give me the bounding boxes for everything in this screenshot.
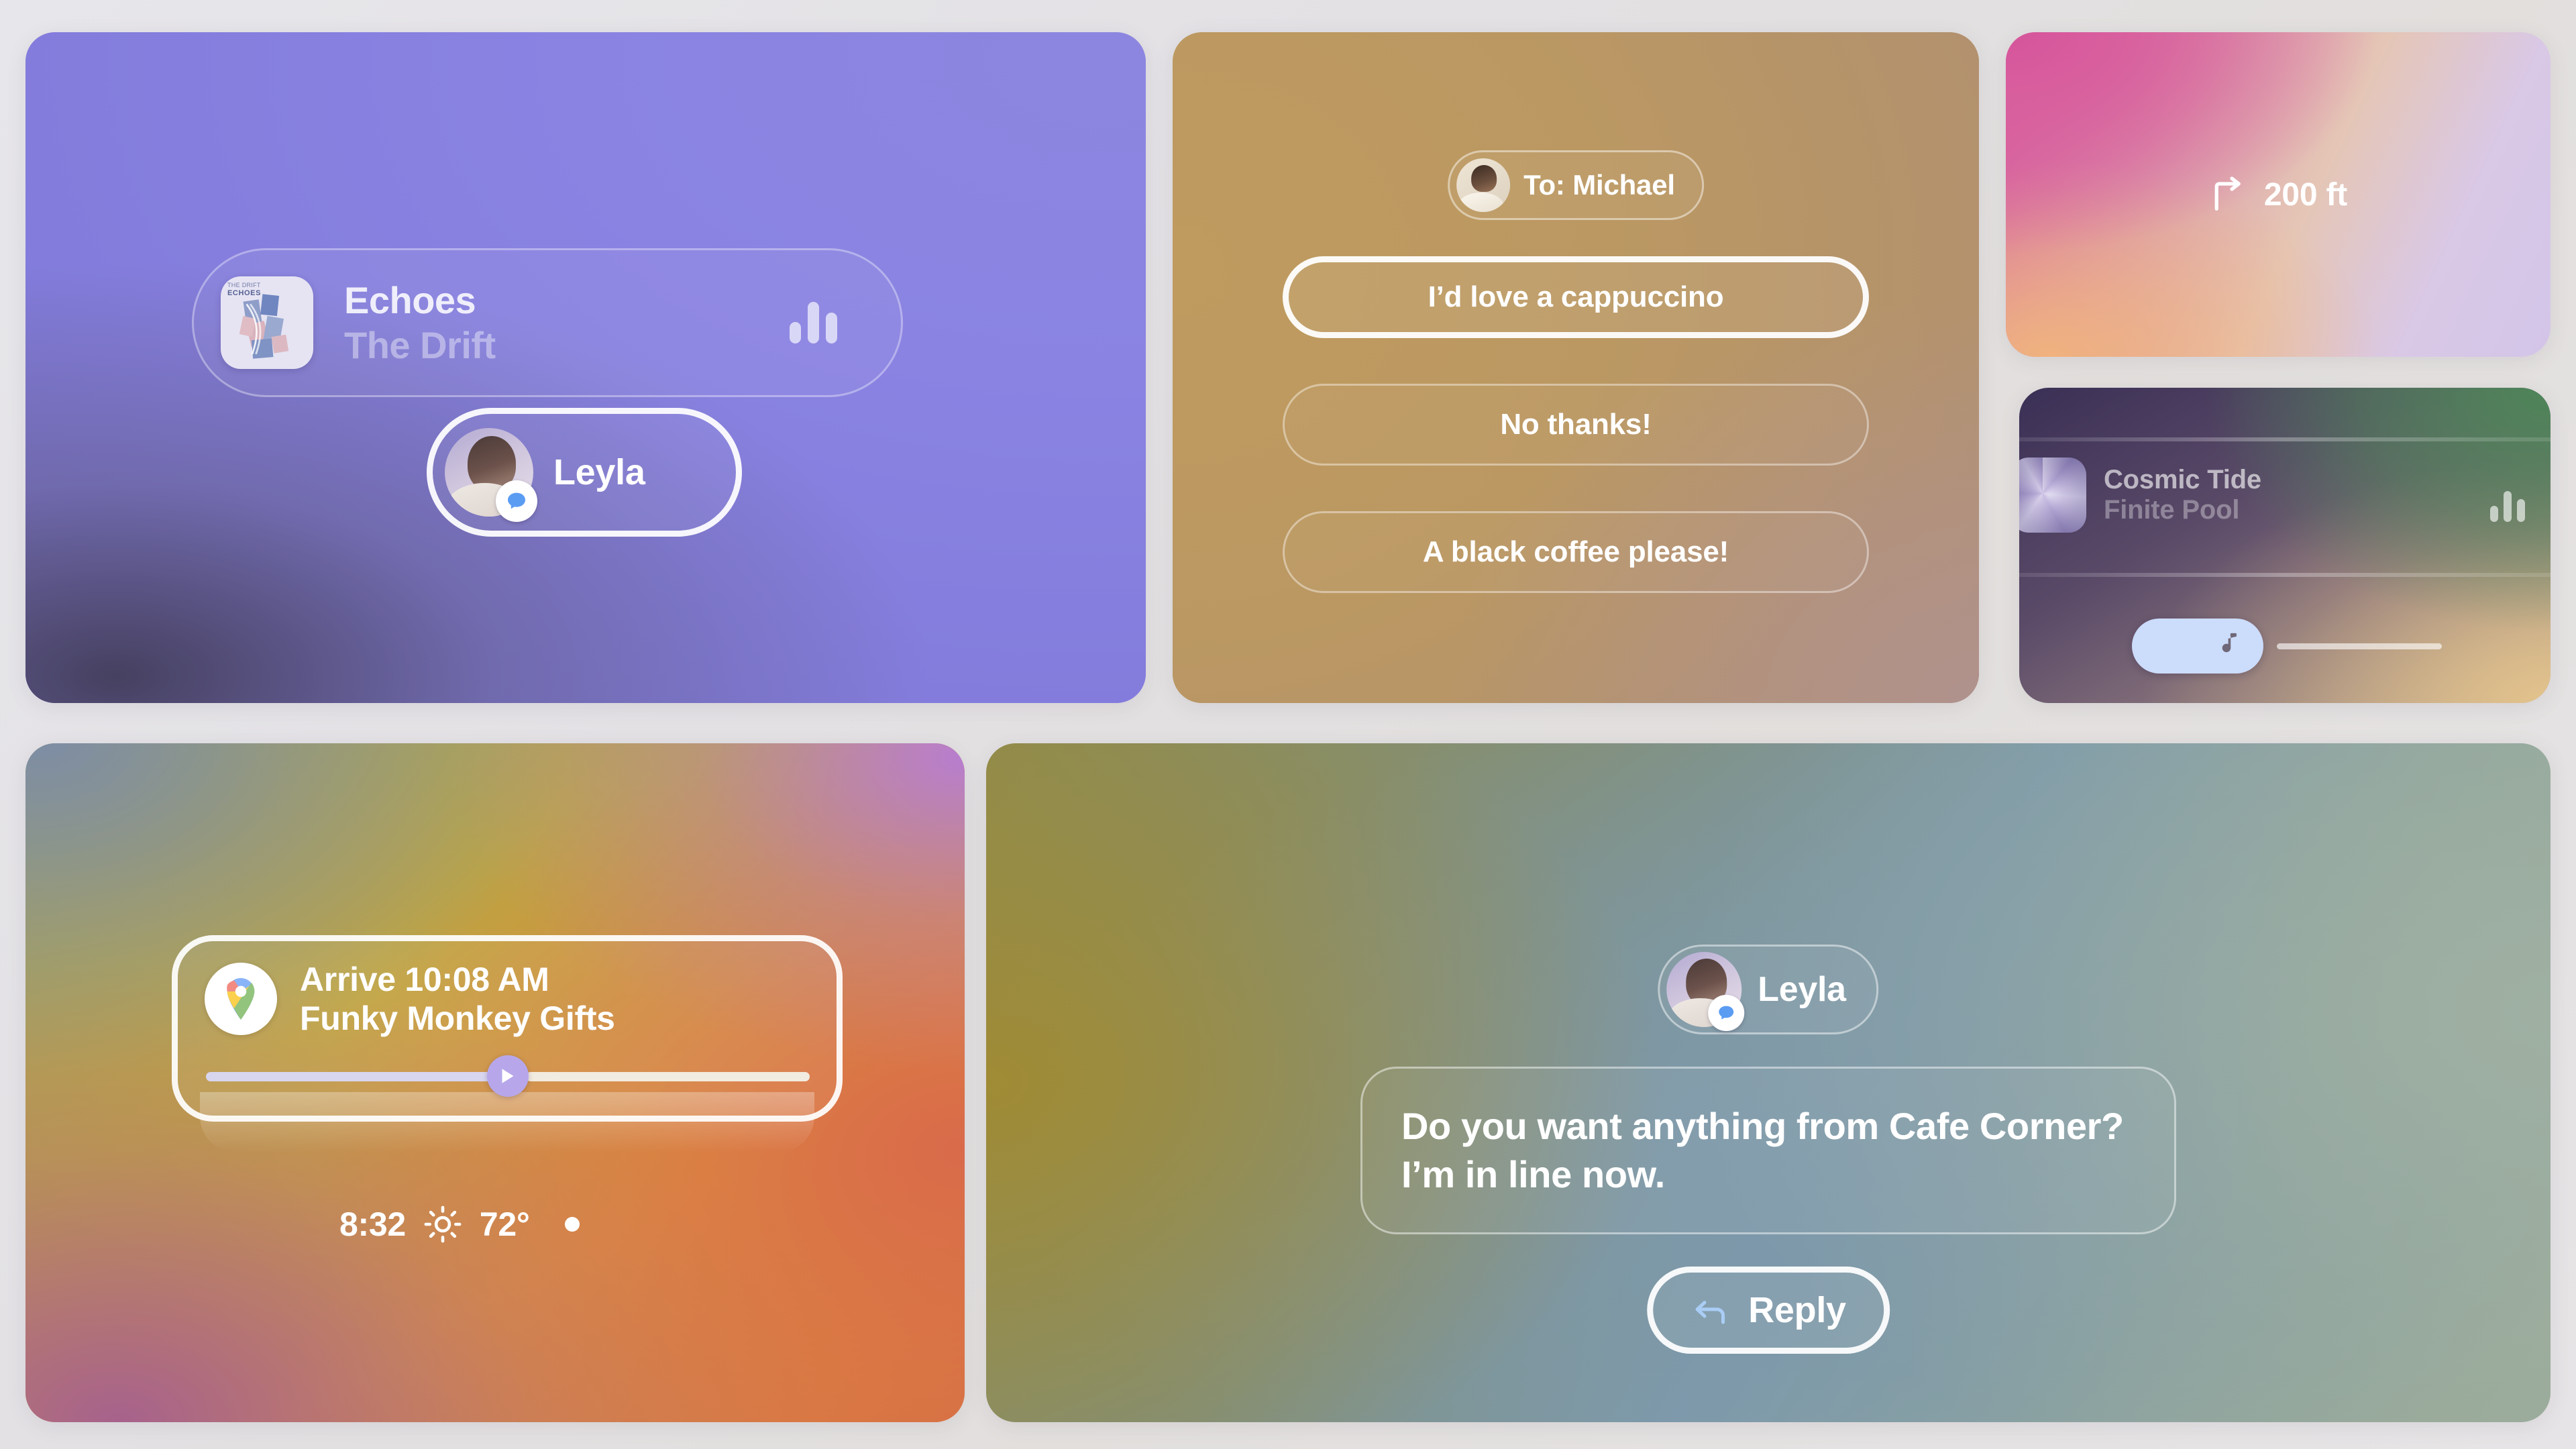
recipient-label: To: Michael — [1523, 169, 1675, 201]
navigation-content: 200 ft — [2006, 32, 2551, 357]
sun-icon — [423, 1205, 462, 1244]
reply-option-1[interactable]: I’d love a cappuccino — [1283, 256, 1869, 338]
music-note-button[interactable] — [2132, 619, 2263, 674]
playback-progress-track[interactable] — [2277, 643, 2442, 649]
card-message[interactable]: Leyla Do you want anything from Cafe Cor… — [986, 743, 2551, 1422]
recipient-chip[interactable]: To: Michael — [1448, 150, 1704, 220]
sender-name: Leyla — [1758, 969, 1845, 1010]
eta-text: Arrive 10:08 AM Funky Monkey Gifts — [300, 960, 615, 1038]
maps-pin-glyph — [215, 973, 266, 1024]
navigation-distance: 200 ft — [2264, 176, 2347, 213]
messages-bubble-icon — [1708, 995, 1744, 1031]
navigation-arrow-icon — [496, 1065, 519, 1087]
equalizer-bars-icon — [2490, 491, 2525, 522]
track-title: Cosmic Tide — [2104, 465, 2261, 495]
now-playing-pill[interactable]: THE DRIFT ECHOES Echoes The Drift — [192, 248, 903, 397]
eta-panel[interactable]: Arrive 10:08 AM Funky Monkey Gifts — [172, 935, 843, 1122]
eta-destination: Funky Monkey Gifts — [300, 999, 615, 1038]
status-dot-icon — [565, 1217, 580, 1232]
mini-track-row: Cosmic Tide Finite Pool — [2019, 458, 2261, 533]
avatar-leyla — [1666, 952, 1741, 1027]
card-music-mini[interactable]: Cosmic Tide Finite Pool — [2019, 388, 2551, 703]
avatar-michael — [1456, 158, 1510, 212]
status-row: 8:32 72° — [339, 1205, 580, 1244]
reply-button-label: Reply — [1748, 1289, 1846, 1331]
clock-time: 8:32 — [339, 1205, 406, 1244]
now-playing-text: Echoes The Drift — [344, 278, 496, 367]
contact-name: Leyla — [553, 451, 645, 493]
album-art-caption: THE DRIFT ECHOES — [227, 282, 261, 299]
track-artist: The Drift — [344, 323, 496, 367]
reply-option-2[interactable]: No thanks! — [1283, 384, 1869, 466]
messages-bubble-icon — [496, 480, 537, 522]
temperature: 72° — [480, 1205, 530, 1244]
equalizer-bars-icon — [790, 302, 837, 343]
card-smart-reply[interactable]: To: Michael I’d love a cappuccino No tha… — [1173, 32, 1979, 703]
contact-chip-leyla[interactable]: Leyla — [427, 408, 742, 537]
reply-arrow-icon — [1690, 1291, 1729, 1330]
eta-header: Arrive 10:08 AM Funky Monkey Gifts — [205, 960, 615, 1038]
card-now-playing[interactable]: THE DRIFT ECHOES Echoes The Drift — [25, 32, 1146, 703]
google-maps-pin-icon — [205, 963, 277, 1035]
slider-track-filled — [206, 1072, 502, 1081]
card-maps-eta[interactable]: Arrive 10:08 AM Funky Monkey Gifts — [25, 743, 965, 1422]
track-title: Echoes — [344, 278, 496, 322]
divider-bottom — [2019, 573, 2551, 577]
messages-bubble-glyph — [1715, 1002, 1737, 1024]
route-progress-slider[interactable] — [206, 1069, 810, 1082]
eta-arrival-time: Arrive 10:08 AM — [300, 960, 615, 999]
messages-bubble-glyph — [504, 488, 529, 514]
slider-track-remaining — [526, 1072, 810, 1081]
divider-top — [2019, 437, 2551, 441]
music-note-icon — [2211, 629, 2246, 663]
slider-thumb[interactable] — [487, 1055, 529, 1097]
message-body: Do you want anything from Cafe Corner? I… — [1401, 1102, 2135, 1198]
album-art-thumbnail — [2019, 458, 2086, 533]
message-bubble: Do you want anything from Cafe Corner? I… — [1360, 1067, 2176, 1234]
turn-right-icon — [2209, 174, 2249, 215]
reply-button[interactable]: Reply — [1647, 1267, 1890, 1354]
widget-canvas: THE DRIFT ECHOES Echoes The Drift — [0, 0, 2576, 1449]
album-art-thumbnail: THE DRIFT ECHOES — [221, 276, 313, 369]
mini-player-controls[interactable] — [2132, 619, 2442, 674]
reply-option-3[interactable]: A black coffee please! — [1283, 511, 1869, 593]
avatar-leyla — [445, 428, 533, 517]
smart-reply-options: I’d love a cappuccino No thanks! A black… — [1283, 256, 1869, 639]
track-artist: Finite Pool — [2104, 495, 2261, 525]
mini-track-text: Cosmic Tide Finite Pool — [2104, 465, 2261, 525]
sender-chip[interactable]: Leyla — [1658, 945, 1878, 1034]
card-navigation[interactable]: 200 ft — [2006, 32, 2551, 357]
